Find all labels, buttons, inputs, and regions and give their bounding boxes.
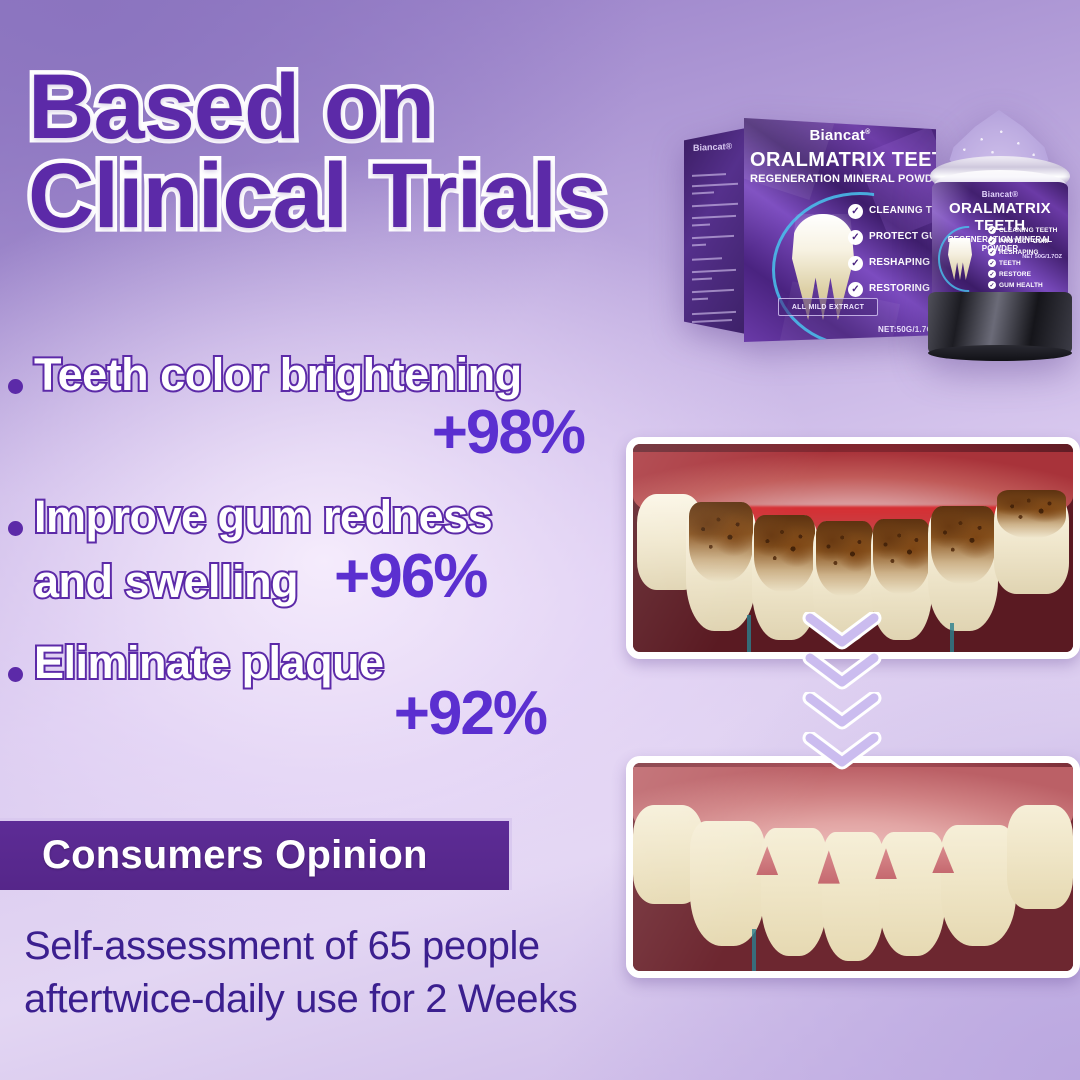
feature-label: RESTORE — [999, 271, 1031, 278]
headline-line-2: Clinical Trials — [28, 152, 728, 241]
benefit-percent: +92% — [394, 678, 546, 749]
check-icon: ✓ — [848, 230, 863, 245]
product-title: ORALMATRIX TEETH — [750, 149, 936, 172]
consumers-opinion-banner: Consumers Opinion — [0, 818, 512, 890]
check-icon: ✓ — [988, 281, 996, 289]
feature-item: ✓CLEANING TEETH — [988, 226, 1057, 234]
bullet-dot-icon — [8, 379, 23, 394]
feature-item: ✓RESTORE — [988, 270, 1057, 278]
product-shot: Biancat® Biancat® — [672, 104, 1080, 372]
benefit-label-line2: and swelling — [34, 559, 298, 606]
product-brand-name: Biancat — [810, 127, 866, 144]
benefit-percent: +98% — [432, 397, 584, 468]
jar-net-weight: NET 50G/1.7OZ — [1022, 254, 1062, 260]
benefit-item-teeth-brightening: Teeth color brightening +98% — [8, 352, 608, 468]
headline-line-1: Based on — [28, 56, 434, 158]
registered-mark: ® — [865, 129, 870, 136]
jar-brand: Biancat® — [932, 190, 1068, 199]
feature-label: PROTECT GUM — [999, 238, 1048, 245]
check-icon: ✓ — [848, 256, 863, 271]
benefit-percent: +96% — [334, 541, 486, 612]
check-icon: ✓ — [988, 259, 996, 267]
product-box-side-panel: Biancat® — [684, 128, 746, 334]
feature-label: GUM HEALTH — [999, 282, 1043, 289]
banner-label: Consumers Opinion — [42, 833, 428, 878]
jar-label: Biancat® ORALMATRIX TEETH REGENERATION M… — [932, 182, 1068, 300]
caption-line-2: aftertwice-daily use for 2 Weeks — [24, 973, 664, 1026]
product-box-front-panel: Biancat® ORALMATRIX TEETH REGENERATION M… — [744, 118, 936, 342]
feature-label: CLEANING TEETH — [999, 227, 1057, 234]
chevron-down-icon — [800, 652, 884, 694]
benefit-label: Eliminate plaque — [34, 640, 384, 687]
study-caption: Self-assessment of 65 people aftertwice-… — [24, 920, 664, 1026]
page-title: Based on Clinical Trials — [28, 63, 728, 241]
benefit-label: Teeth color brightening — [34, 352, 522, 399]
chevron-down-icon — [800, 732, 884, 774]
product-subtitle: REGENERATION MINERAL POWDER — [750, 173, 936, 185]
product-brand: Biancat® — [744, 127, 936, 144]
product-box: Biancat® Biancat® — [684, 118, 936, 342]
chevron-down-icon — [800, 612, 884, 654]
chevron-down-icon — [800, 692, 884, 734]
after-photo — [626, 756, 1080, 978]
bullet-dot-icon — [8, 667, 23, 682]
benefit-item-eliminate-plaque: Eliminate plaque +92% — [8, 640, 608, 750]
check-icon: ✓ — [988, 237, 996, 245]
benefits-list: Teeth color brightening +98% Improve gum… — [8, 352, 608, 761]
benefit-item-gum-redness: Improve gum redness and swelling +96% — [8, 494, 608, 612]
benefit-label: Improve gum redness — [34, 494, 492, 541]
side-brand-label: Biancat® — [693, 141, 732, 153]
check-icon: ✓ — [848, 204, 863, 219]
check-icon: ✓ — [988, 226, 996, 234]
ad-canvas: Based on Clinical Trials Teeth color bri… — [0, 0, 1080, 1080]
transition-arrows — [800, 612, 896, 772]
check-icon: ✓ — [848, 282, 863, 297]
check-icon: ✓ — [988, 248, 996, 256]
check-icon: ✓ — [988, 270, 996, 278]
feature-item: ✓TEETH — [988, 259, 1057, 267]
feature-label: TEETH — [999, 260, 1021, 267]
caption-line-1: Self-assessment of 65 people — [24, 924, 540, 968]
product-jar: Biancat® ORALMATRIX TEETH REGENERATION M… — [918, 104, 1080, 372]
bullet-dot-icon — [8, 521, 23, 536]
jar-base — [928, 292, 1072, 354]
feature-item: ✓PROTECT GUM — [988, 237, 1057, 245]
feature-item: ✓GUM HEALTH — [988, 281, 1057, 289]
